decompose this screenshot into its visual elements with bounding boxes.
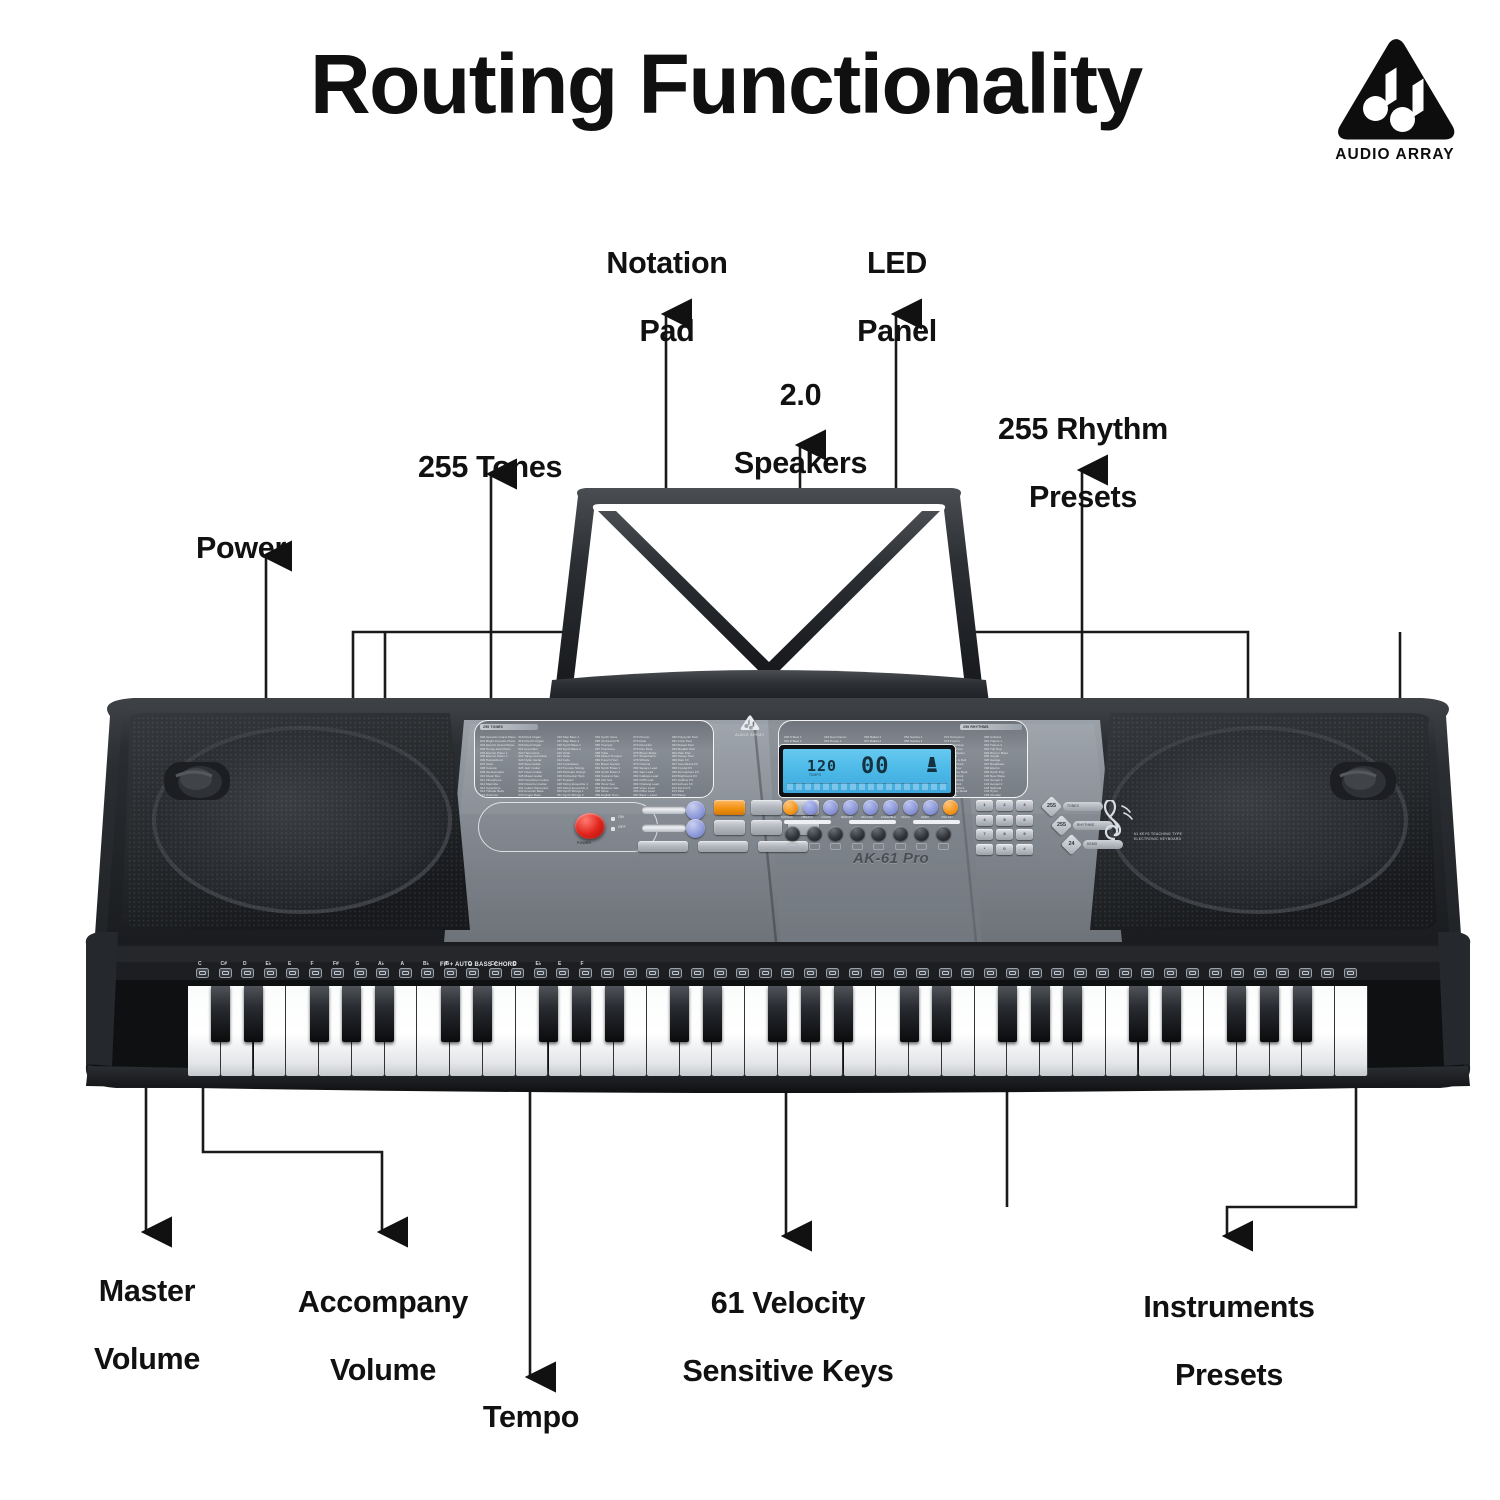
chord-key-icon (1186, 968, 1199, 978)
keypad-button-9[interactable]: 9 (1016, 829, 1033, 840)
chord-key-icon (1164, 968, 1177, 978)
black-key[interactable] (670, 986, 689, 1042)
preset-column: 072 Piccolo073 Flute074 Recorder075 Pan … (633, 736, 669, 798)
hihat-icon (916, 843, 927, 850)
led-panel-display: 120 TEMPO 00 (778, 744, 956, 798)
lcd-tempo-label: TEMPO (809, 773, 821, 777)
drum-icon (787, 843, 798, 850)
black-key[interactable] (1293, 986, 1312, 1042)
key-note-label: A♭ (378, 961, 384, 967)
black-key[interactable] (900, 986, 919, 1042)
black-key[interactable] (768, 986, 787, 1042)
preset-column: 000 Acoustic Grand Piano001 Bright Acous… (480, 736, 516, 798)
keypad-button-label: 7 (976, 831, 993, 836)
top-button-label: TEACH (901, 816, 910, 819)
button-group-tick (784, 820, 831, 824)
black-key[interactable] (932, 986, 951, 1042)
top-button-label: DEMO (921, 816, 929, 819)
chord-key-icon (489, 968, 502, 978)
chord-key-icon (804, 968, 817, 978)
function-button-sync[interactable] (714, 820, 745, 835)
black-key[interactable] (801, 986, 820, 1042)
black-key[interactable] (1162, 986, 1181, 1042)
accompany-volume-slider[interactable] (642, 824, 686, 832)
percussion-button-hihat-icon[interactable] (914, 826, 929, 841)
callout-master-volume: Master Volume (52, 1240, 242, 1411)
kick-icon (895, 843, 906, 850)
top-button-vibrato[interactable] (803, 800, 818, 815)
notation-pad-stand (544, 484, 994, 714)
top-button-memory[interactable] (843, 800, 858, 815)
chord-key-icon (421, 968, 434, 978)
button-group-tick (849, 820, 896, 824)
key-note-label: A (401, 961, 405, 967)
black-key[interactable] (605, 986, 624, 1042)
black-key[interactable] (211, 986, 230, 1042)
chord-key-icon (669, 968, 682, 978)
preset-entry: 105 Chorale (984, 794, 1022, 798)
chord-key-icon (534, 968, 547, 978)
chord-key-icon (1051, 968, 1064, 978)
power-off-label: OFF (618, 825, 626, 829)
treble-clef-icon (1098, 800, 1134, 840)
top-button-one-key[interactable] (943, 800, 958, 815)
key-note-label: C (198, 961, 202, 967)
chord-key-icon (241, 968, 254, 978)
preset-column: 018 Rock Organ019 Church Organ020 Reed O… (518, 736, 554, 798)
preset-column: 090 Ambient091 Trance 1092 Trance 2093 T… (984, 736, 1022, 798)
keypad-button-8[interactable]: 8 (996, 829, 1013, 840)
key-note-label: G (356, 961, 360, 967)
key-note-label: B♭ (423, 961, 429, 967)
lcd-screen: 120 TEMPO 00 (783, 749, 951, 793)
page-header: Routing Functionality AUDIO ARRAY (0, 0, 1500, 200)
power-on-led (611, 817, 615, 821)
preset-entry: 087 Bass + Lead (633, 794, 669, 798)
preset-column: 036 Slap Bass 1037 Slap Bass 2038 Synth … (557, 736, 593, 798)
mode-badge-number: 255 (1044, 799, 1059, 814)
keypad-button-5[interactable]: 5 (996, 815, 1013, 826)
chord-key-icon (1276, 968, 1289, 978)
cymbal-icon (809, 843, 820, 850)
power-button[interactable] (575, 813, 605, 839)
keypad-button-label: 3 (1016, 802, 1033, 807)
function-button-fill[interactable] (751, 820, 782, 835)
chord-key-icon (714, 968, 727, 978)
chord-key-icon (444, 968, 457, 978)
preset-entry: 051 Synth Strings 2 (557, 794, 593, 798)
black-key[interactable] (310, 986, 329, 1042)
preset-column: 054 Synth Voice055 Orchestra Hit056 Trum… (595, 736, 631, 798)
chord-key-icon (691, 968, 704, 978)
power-off-led (611, 827, 615, 831)
key-note-label: C# (221, 961, 227, 967)
brand-name: AUDIO ARRAY (1332, 146, 1458, 164)
piano-keys[interactable] (188, 986, 1368, 1076)
keypad-button-label: 4 (976, 817, 993, 822)
keypad-button-label: 9 (1016, 831, 1033, 836)
top-button-row[interactable]: SUSTAINVIBRATOCHORDMEMORYRECORDENSEMBLET… (782, 800, 962, 820)
chord-key-icon (399, 968, 412, 978)
callout-velocity-keys: 61 Velocity Sensitive Keys (660, 1252, 916, 1423)
keypad-button-0[interactable]: 0 (996, 844, 1013, 855)
black-key[interactable] (1063, 986, 1082, 1042)
chord-key-icon (286, 968, 299, 978)
callout-led-panel: LED Panel (824, 212, 970, 383)
keypad-button-6[interactable]: 6 (1016, 815, 1033, 826)
mode-badge-label: TONES (1063, 802, 1103, 811)
top-button-demo[interactable] (923, 800, 938, 815)
chord-key-icon (939, 968, 952, 978)
brand-logo: AUDIO ARRAY (1332, 38, 1458, 166)
chord-key-icon (1321, 968, 1334, 978)
keypad-button-label: 5 (996, 817, 1013, 822)
top-button-chord[interactable] (823, 800, 838, 815)
chord-key-icon (264, 968, 277, 978)
keypad-button-4[interactable]: 4 (976, 815, 993, 826)
function-button-rhythm[interactable] (751, 800, 782, 815)
preset-entry: 069 English Horn (595, 794, 631, 798)
key-note-label: F# (333, 961, 339, 967)
keypad-button-label: 1 (976, 802, 993, 807)
percussion-button-kick-icon[interactable] (893, 826, 908, 841)
lcd-segment-bar (787, 783, 947, 790)
percussion-button-tom-icon[interactable] (828, 826, 843, 841)
top-button-label: CHORD (821, 816, 831, 819)
chord-key-icon (219, 968, 232, 978)
chord-key-icon (1141, 968, 1154, 978)
chord-key-icon (309, 968, 322, 978)
power-section (478, 802, 658, 852)
chord-key-icon (511, 968, 524, 978)
chord-key-icon (1006, 968, 1019, 978)
chord-key-icon (1344, 968, 1357, 978)
black-key[interactable] (1129, 986, 1148, 1042)
audio-array-triangle-icon (1332, 38, 1458, 142)
top-button-sustain[interactable] (783, 800, 798, 815)
accompany-volume-knob[interactable] (686, 819, 705, 838)
key-note-label: F (581, 961, 584, 967)
mode-badge-number: 24 (1064, 837, 1079, 852)
black-key[interactable] (703, 986, 722, 1042)
chord-key-icon (1096, 968, 1109, 978)
top-button-label: SUSTAIN (781, 816, 793, 819)
preset-entry: 033 Finger Bass (518, 794, 554, 798)
preset-entry: 105 Banjo (672, 794, 708, 798)
tambourine-icon (938, 843, 949, 850)
chord-key-icon (1119, 968, 1132, 978)
lcd-program-value: 00 (861, 754, 890, 779)
black-key[interactable] (1031, 986, 1050, 1042)
black-key[interactable] (572, 986, 591, 1042)
model-name: AK-61 Pro (853, 850, 929, 867)
top-button-label: MEMORY (841, 816, 853, 819)
key-note-label: E♭ (266, 961, 272, 967)
percussion-button-row[interactable] (784, 826, 956, 850)
panel-brand-logo: AUDIO ARRAY (730, 714, 770, 742)
tom-icon (830, 843, 841, 850)
mode-badge-label: DEMO (1083, 840, 1123, 849)
chord-key-icon (1231, 968, 1244, 978)
function-button-tone[interactable] (714, 800, 745, 815)
black-key[interactable] (244, 986, 263, 1042)
black-key[interactable] (1260, 986, 1279, 1042)
metronome-icon (927, 757, 937, 772)
power-on-label: ON (618, 815, 624, 819)
chord-key-icon (1074, 968, 1087, 978)
percussion-button-clap-icon[interactable] (850, 826, 865, 841)
tone-panel-header: 255 TONES (480, 724, 538, 730)
keypad-button-*[interactable]: * (976, 844, 993, 855)
rhythm-panel-header: 255 RHYTHMS (960, 724, 1022, 730)
chord-key-icon (894, 968, 907, 978)
black-key[interactable] (375, 986, 394, 1042)
master-volume-knob[interactable] (686, 801, 705, 820)
chord-key-icon (1299, 968, 1312, 978)
keypad-button-3[interactable]: 3 (1016, 800, 1033, 811)
percussion-button-drum-icon[interactable] (785, 826, 800, 841)
key-note-label: E (288, 961, 291, 967)
keyboard-product-image: 255 TONES 000 Acoustic Grand Piano001 Br… (78, 470, 1478, 1150)
chord-key-icon (196, 968, 209, 978)
black-key[interactable] (441, 986, 460, 1042)
keypad-button-label: 2 (996, 802, 1013, 807)
black-key[interactable] (834, 986, 853, 1042)
chord-key-icon (601, 968, 614, 978)
keypad-button-label: 8 (996, 831, 1013, 836)
preset-entry: 015 Dulcimer (480, 794, 516, 798)
snare-icon (873, 843, 884, 850)
panel-triangle-icon (738, 714, 762, 732)
chord-key-icon (646, 968, 659, 978)
chord-key-icon (1209, 968, 1222, 978)
clap-icon (852, 843, 863, 850)
chord-key-icon (984, 968, 997, 978)
black-key[interactable] (342, 986, 361, 1042)
panel-brand-text: AUDIO ARRAY (730, 733, 770, 737)
chord-key-icon (556, 968, 569, 978)
right-speaker-knob (1330, 762, 1396, 800)
top-button-label: RECORD (861, 816, 873, 819)
product-tagline: 61 KEYS TEACHING TYPE ELECTRONIC KEYBOAR… (1134, 832, 1226, 841)
preset-column: 090 Polysynth Pad091 Choir Pad092 Bowed … (672, 736, 708, 798)
chord-key-icon (826, 968, 839, 978)
callout-tempo: Tempo (448, 1366, 614, 1468)
keypad-button-#[interactable]: # (1016, 844, 1033, 855)
chord-key-icon (331, 968, 344, 978)
black-key[interactable] (998, 986, 1017, 1042)
chord-key-icon (1029, 968, 1042, 978)
callout-instruments-presets: Instruments Presets (1096, 1256, 1362, 1427)
percussion-button-snare-icon[interactable] (871, 826, 886, 841)
chord-key-icon (781, 968, 794, 978)
chord-key-icon (579, 968, 592, 978)
top-button-ensemble[interactable] (883, 800, 898, 815)
keypad-button-label: 0 (996, 846, 1013, 851)
tone-preset-list-panel: 255 TONES 000 Acoustic Grand Piano001 Br… (474, 720, 714, 798)
key-note-label: E (558, 961, 561, 967)
numeric-keypad[interactable]: 123456789*0# (976, 800, 1036, 858)
top-button-record[interactable] (863, 800, 878, 815)
chord-key-icon (466, 968, 479, 978)
auto-bass-chord-text: FF + AUTO BASS CHORD (440, 962, 517, 968)
white-key[interactable] (1335, 986, 1367, 1076)
chord-key-icon (916, 968, 929, 978)
left-speaker-knob (164, 762, 230, 800)
keypad-button-7[interactable]: 7 (976, 829, 993, 840)
chord-key-icon (624, 968, 637, 978)
key-chord-label-strip: CC#DE♭EFF#GA♭AB♭BCC#DE♭EF (196, 968, 1366, 984)
keypad-button-label: # (1016, 846, 1033, 851)
power-button-label: POWER (577, 841, 591, 845)
black-key[interactable] (1227, 986, 1246, 1042)
key-note-label: D (243, 961, 247, 967)
chord-key-icon (961, 968, 974, 978)
percussion-button-tambourine-icon[interactable] (936, 826, 951, 841)
keypad-button-label: * (976, 846, 993, 851)
chord-key-icon (871, 968, 884, 978)
keypad-button-label: 6 (1016, 817, 1033, 822)
black-key[interactable] (473, 986, 492, 1042)
chord-key-icon (849, 968, 862, 978)
function-button-tempo-up[interactable] (698, 841, 748, 852)
keypad-button-1[interactable]: 1 (976, 800, 993, 811)
top-button-label: ENSEMBLE (881, 816, 896, 819)
top-button-teach[interactable] (903, 800, 918, 815)
percussion-button-cymbal-icon[interactable] (807, 826, 822, 841)
key-note-label: F (311, 961, 314, 967)
keypad-button-2[interactable]: 2 (996, 800, 1013, 811)
top-button-label: ONE KEY (941, 816, 953, 819)
function-button-tempo-down[interactable] (638, 841, 688, 852)
button-group-tick (913, 820, 960, 824)
key-note-label: E♭ (536, 961, 542, 967)
chord-key-icon (376, 968, 389, 978)
top-button-label: VIBRATO (801, 816, 813, 819)
master-volume-slider[interactable] (642, 806, 686, 814)
chord-key-icon (354, 968, 367, 978)
chord-key-icon (759, 968, 772, 978)
page-title: Routing Functionality (310, 36, 1142, 133)
mode-badge-number: 255 (1054, 818, 1069, 833)
chord-key-icon (736, 968, 749, 978)
black-key[interactable] (539, 986, 558, 1042)
chord-key-icon (1254, 968, 1267, 978)
